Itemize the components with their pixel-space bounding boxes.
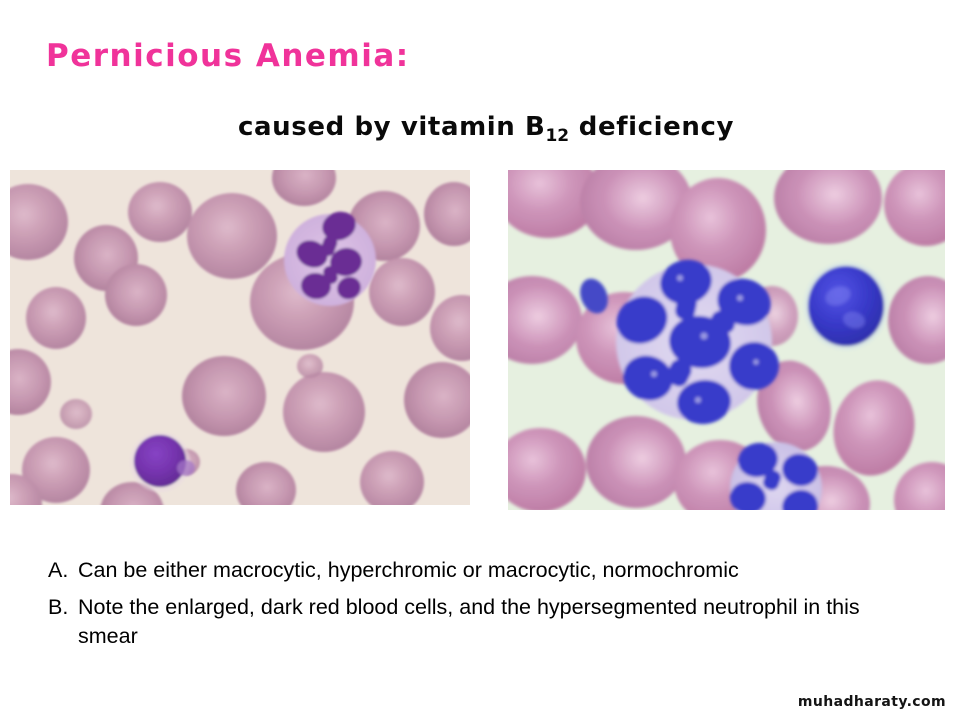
- list-item-marker: A.: [48, 556, 78, 584]
- smear-left-svg: [10, 170, 470, 505]
- peripheral-blood-smear-right-image: [508, 170, 945, 510]
- list-item: A. Can be either macrocytic, hyperchromi…: [48, 556, 928, 584]
- subtitle-subscript: 12: [545, 126, 569, 146]
- subtitle-suffix: deficiency: [569, 112, 734, 142]
- page-title-text: Pernicious Anemia:: [46, 38, 410, 74]
- list-item-text: Note the enlarged, dark red blood cells,…: [78, 593, 918, 650]
- subtitle-prefix: caused by vitamin B: [238, 112, 545, 142]
- footer-watermark: muhadharaty.com: [798, 694, 946, 710]
- smear-right-svg: [508, 170, 945, 510]
- bullet-list: A. Can be either macrocytic, hyperchromi…: [48, 556, 928, 659]
- peripheral-blood-smear-left-image: [10, 170, 470, 505]
- list-item-marker: B.: [48, 593, 78, 621]
- list-item-text: Can be either macrocytic, hyperchromic o…: [78, 556, 739, 584]
- list-item: B. Note the enlarged, dark red blood cel…: [48, 593, 928, 650]
- page-subtitle: caused by vitamin B12 deficiency: [238, 112, 734, 146]
- page-title: Pernicious Anemia:: [46, 38, 410, 74]
